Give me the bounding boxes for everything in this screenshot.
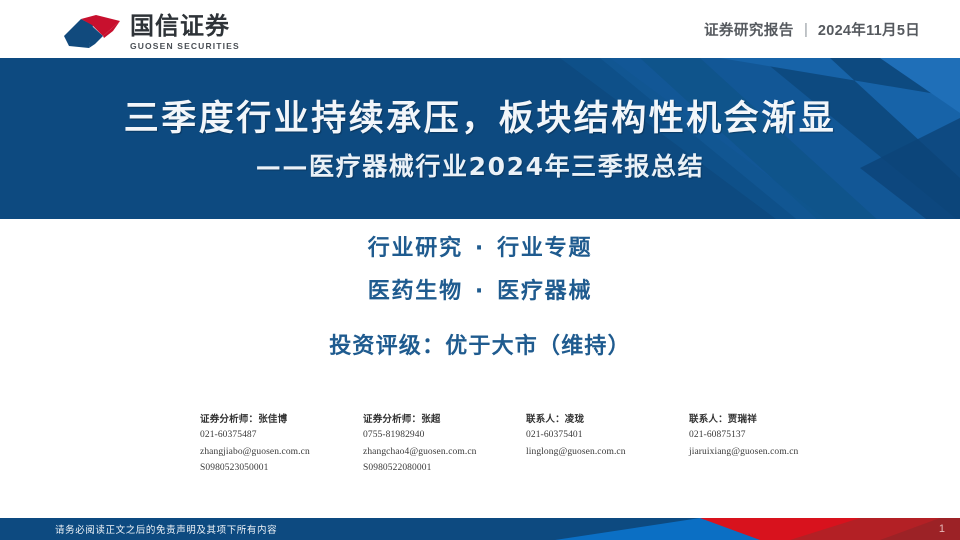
presentation-slide: 国信证券 GUOSEN SECURITIES 证券研究报告 | 2024年11月…: [0, 0, 960, 540]
investment-rating: 投资评级：优于大市（维持）: [329, 336, 631, 358]
analyst-certificate: S0980522080001: [363, 460, 526, 476]
category-industry-research: 行业研究: [368, 236, 463, 261]
analyst-name: 联系人：贾瑞祥: [689, 412, 852, 427]
banner-bottom-rule: [0, 219, 960, 222]
page-number: 1: [939, 518, 945, 540]
title-banner: 三季度行业持续承压，板块结构性机会渐显 ——医疗器械行业2024年三季报总结: [0, 58, 960, 222]
guosen-chevron-logo-icon: [63, 15, 121, 49]
category-dot-2: ·: [463, 279, 497, 304]
analyst-column: 证券分析师：张超 0755-81982940 zhangchao4@guosen…: [363, 412, 526, 476]
category-pharma-bio: 医药生物: [368, 279, 463, 304]
banner-text-block: 三季度行业持续承压，板块结构性机会渐显 ——医疗器械行业2024年三季报总结: [0, 58, 960, 222]
analyst-phone: 0755-81982940: [363, 427, 526, 443]
category-dot-1: ·: [463, 236, 497, 261]
analyst-name: 证券分析师：张佳博: [200, 412, 363, 427]
page-title: 三季度行业持续承压，板块结构性机会渐显: [124, 98, 837, 142]
analyst-contacts: 证券分析师：张佳博 021-60375487 zhangjiabo@guosen…: [0, 412, 960, 476]
analyst-certificate: S0980523050001: [200, 460, 363, 476]
category-industry-topic: 行业专题: [497, 236, 592, 261]
company-logo: 国信证券 GUOSEN SECURITIES: [63, 14, 240, 51]
report-date: 2024年11月5日: [818, 19, 920, 40]
report-category-block: 行业研究·行业专题 医药生物·医疗器械 投资评级：优于大市（维持）: [0, 238, 960, 358]
analyst-email: zhangjiabo@guosen.com.cn: [200, 444, 363, 460]
report-type-label: 证券研究报告: [704, 19, 794, 40]
analyst-email: jiaruixiang@guosen.com.cn: [689, 444, 852, 460]
footer-disclaimer: 请务必阅读正文之后的免责声明及其项下所有内容: [55, 518, 277, 540]
analyst-phone: 021-60375487: [200, 427, 363, 443]
slide-header: 国信证券 GUOSEN SECURITIES 证券研究报告 | 2024年11月…: [0, 0, 960, 58]
analyst-column: 联系人：凌珑 021-60375401 linglong@guosen.com.…: [526, 412, 689, 476]
category-line-sector: 医药生物·医疗器械: [368, 281, 593, 303]
slide-footer: 请务必阅读正文之后的免责声明及其项下所有内容 1: [0, 518, 960, 540]
analyst-name: 联系人：凌珑: [526, 412, 689, 427]
category-medical-devices: 医疗器械: [497, 279, 592, 304]
header-separator: |: [803, 21, 809, 38]
header-meta: 证券研究报告 | 2024年11月5日: [704, 0, 920, 58]
analyst-name: 证券分析师：张超: [363, 412, 526, 427]
analyst-phone: 021-60375401: [526, 427, 689, 443]
logo-chinese-name: 国信证券: [130, 14, 240, 39]
analyst-email: zhangchao4@guosen.com.cn: [363, 444, 526, 460]
analyst-column: 证券分析师：张佳博 021-60375487 zhangjiabo@guosen…: [200, 412, 363, 476]
analyst-email: linglong@guosen.com.cn: [526, 444, 689, 460]
analyst-phone: 021-60875137: [689, 427, 852, 443]
category-line-industry: 行业研究·行业专题: [368, 238, 593, 260]
logo-text: 国信证券 GUOSEN SECURITIES: [130, 14, 240, 51]
page-subtitle: ——医疗器械行业2024年三季报总结: [256, 151, 704, 182]
logo-english-name: GUOSEN SECURITIES: [130, 42, 240, 51]
analyst-column: 联系人：贾瑞祥 021-60875137 jiaruixiang@guosen.…: [689, 412, 852, 476]
